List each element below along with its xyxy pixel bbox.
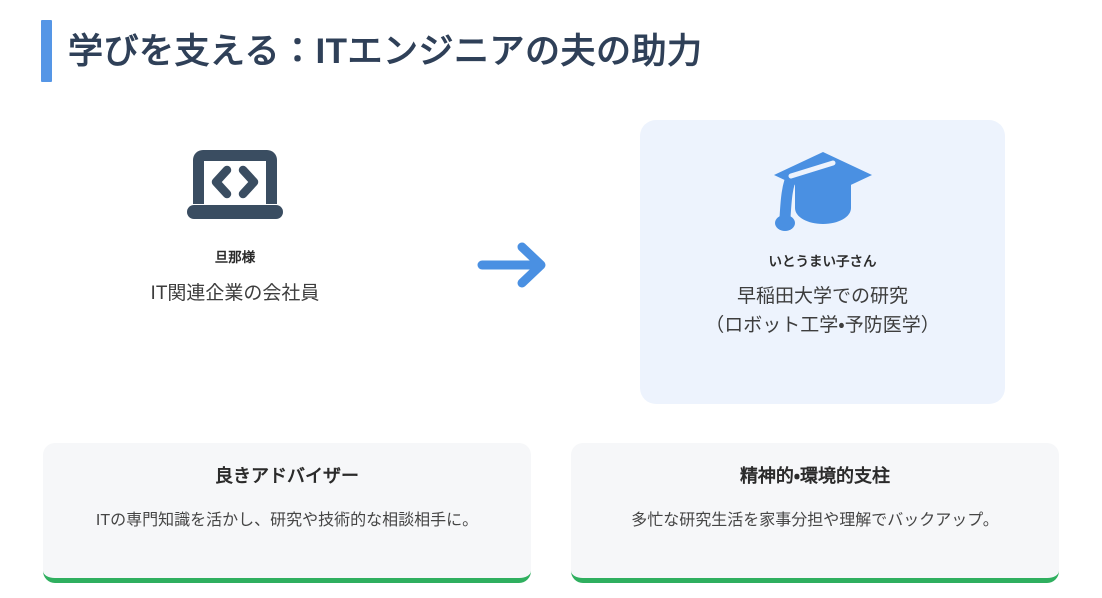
researcher-name-label: いとうまい子さん — [660, 250, 985, 270]
feature-card-title: 良きアドバイザー — [61, 465, 513, 488]
feature-card-title: 精神的・環境的支柱 — [589, 465, 1041, 488]
graduation-cap-icon — [771, 146, 875, 236]
feature-card-description: ITの専門知識を活かし、研究や技術的な相談相手に。 — [61, 510, 513, 532]
feature-card-description: 多忙な研究生活を家事分担や理解でバックアップ。 — [589, 510, 1041, 532]
title-accent-bar — [41, 20, 52, 82]
feature-card: 精神的・環境的支柱 多忙な研究生活を家事分担や理解でバックアップ。 — [571, 443, 1059, 583]
researcher-description-line1: 早稲田大学での研究 — [660, 282, 985, 311]
person-block-husband: 旦那様 IT関連企業の会社員 — [110, 142, 360, 309]
husband-description: IT関連企業の会社員 — [110, 280, 360, 309]
page-title: 学びを支える：ITエンジニアの夫の助力 — [41, 20, 703, 82]
husband-name-label: 旦那様 — [110, 246, 360, 266]
page-title-text: 学びを支える：ITエンジニアの夫の助力 — [68, 34, 703, 69]
feature-card-list: 良きアドバイザー ITの専門知識を活かし、研究や技術的な相談相手に。 精神的・環… — [43, 443, 1059, 583]
researcher-description-line2: （ロボット工学・予防医学） — [660, 311, 985, 340]
flow-arrow — [470, 240, 560, 290]
researcher-card: いとうまい子さん 早稲田大学での研究 （ロボット工学・予防医学） — [640, 120, 1005, 404]
researcher-description: 早稲田大学での研究 （ロボット工学・予防医学） — [660, 282, 985, 341]
arrow-right-icon — [470, 240, 560, 290]
laptop-code-icon — [183, 142, 287, 226]
feature-card: 良きアドバイザー ITの専門知識を活かし、研究や技術的な相談相手に。 — [43, 443, 531, 583]
comparison-flow: 旦那様 IT関連企業の会社員 いとうまい子さん 早稲田大学での研究 （ロボット工… — [0, 120, 1102, 410]
